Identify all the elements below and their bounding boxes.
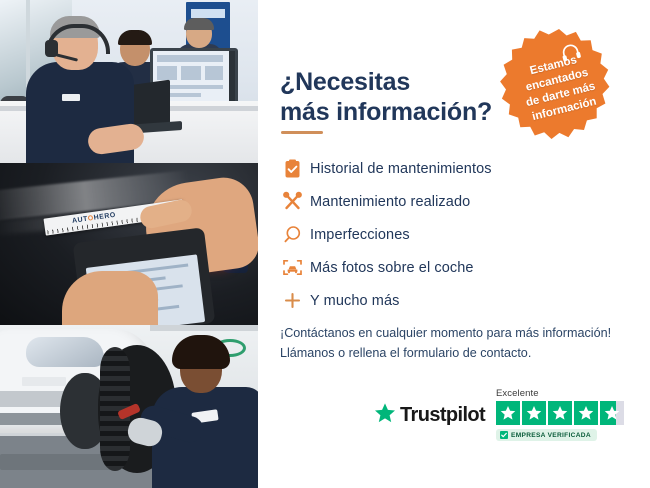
trustpilot-star-icon (374, 402, 396, 429)
check-icon (500, 431, 508, 439)
brand-prefix: AUT (72, 216, 89, 225)
plus-icon (274, 286, 310, 316)
trustpilot-brand-name: Trustpilot (400, 404, 485, 427)
title-divider (281, 131, 323, 134)
mechanic-wheel-photo (0, 325, 258, 488)
star-icon (522, 401, 546, 425)
star-rating (496, 401, 630, 425)
feature-label: Historial de mantenimientos (310, 161, 492, 177)
feature-label: Y mucho más (310, 293, 399, 309)
trustpilot-widget[interactable]: Trustpilot Excelente EMPRESA VERIFICADA (374, 388, 630, 450)
trustpilot-logo[interactable]: Trustpilot (374, 402, 485, 429)
rating-label: Excelente (496, 388, 630, 399)
car-scan-icon (274, 253, 310, 283)
info-banner: AUTOHERO (0, 0, 650, 488)
car-headlight (26, 337, 104, 367)
magnifier-icon (274, 220, 310, 250)
trustpilot-rating: Excelente EMPRESA VERIFICADA (496, 388, 630, 443)
name-badge (62, 94, 80, 101)
feature-label: Más fotos sobre el coche (310, 260, 474, 276)
feature-label: Mantenimiento realizado (310, 194, 470, 210)
paragraph-line-2: Llámanos o rellena el formulario de cont… (280, 343, 640, 363)
photo-column: AUTOHERO (0, 0, 258, 488)
star-icon (496, 401, 520, 425)
feature-item-mas[interactable]: Y mucho más (274, 284, 614, 317)
feature-item-historial[interactable]: Historial de mantenimientos (274, 152, 614, 185)
inspector-hand-lower (62, 271, 158, 325)
title-line-1: ¿Necesitas (280, 68, 410, 96)
crossed-tools-icon (274, 187, 310, 217)
mechanic-person (146, 335, 258, 488)
feature-item-mantenimiento[interactable]: Mantenimiento realizado (274, 185, 614, 218)
star-icon-partial (600, 401, 624, 425)
verified-label: EMPRESA VERIFICADA (511, 432, 591, 439)
promo-badge: Estamos encantados de darte más informac… (498, 27, 620, 149)
call-center-agent-photo (0, 0, 258, 163)
clipboard-check-icon (274, 154, 310, 184)
verified-company-badge: EMPRESA VERIFICADA (496, 429, 597, 441)
title-line-2: más información? (280, 98, 492, 126)
contact-paragraph: ¡Contáctanos en cualquier momento para m… (280, 323, 640, 364)
star-icon (574, 401, 598, 425)
license-plate (22, 377, 66, 386)
car-inspection-ruler-photo: AUTOHERO (0, 163, 258, 325)
foreground-agent (26, 18, 134, 163)
workshop-shelf (150, 325, 258, 331)
feature-item-imperfecciones[interactable]: Imperfecciones (274, 218, 614, 251)
feature-item-fotos[interactable]: Más fotos sobre el coche (274, 251, 614, 284)
feature-label: Imperfecciones (310, 227, 410, 243)
star-icon (548, 401, 572, 425)
content-panel: ¿Necesitas más información? Estamos enca… (258, 0, 650, 488)
paragraph-line-1: ¡Contáctanos en cualquier momento para m… (280, 323, 640, 343)
feature-list: Historial de mantenimientos Mantenimient… (274, 152, 614, 317)
